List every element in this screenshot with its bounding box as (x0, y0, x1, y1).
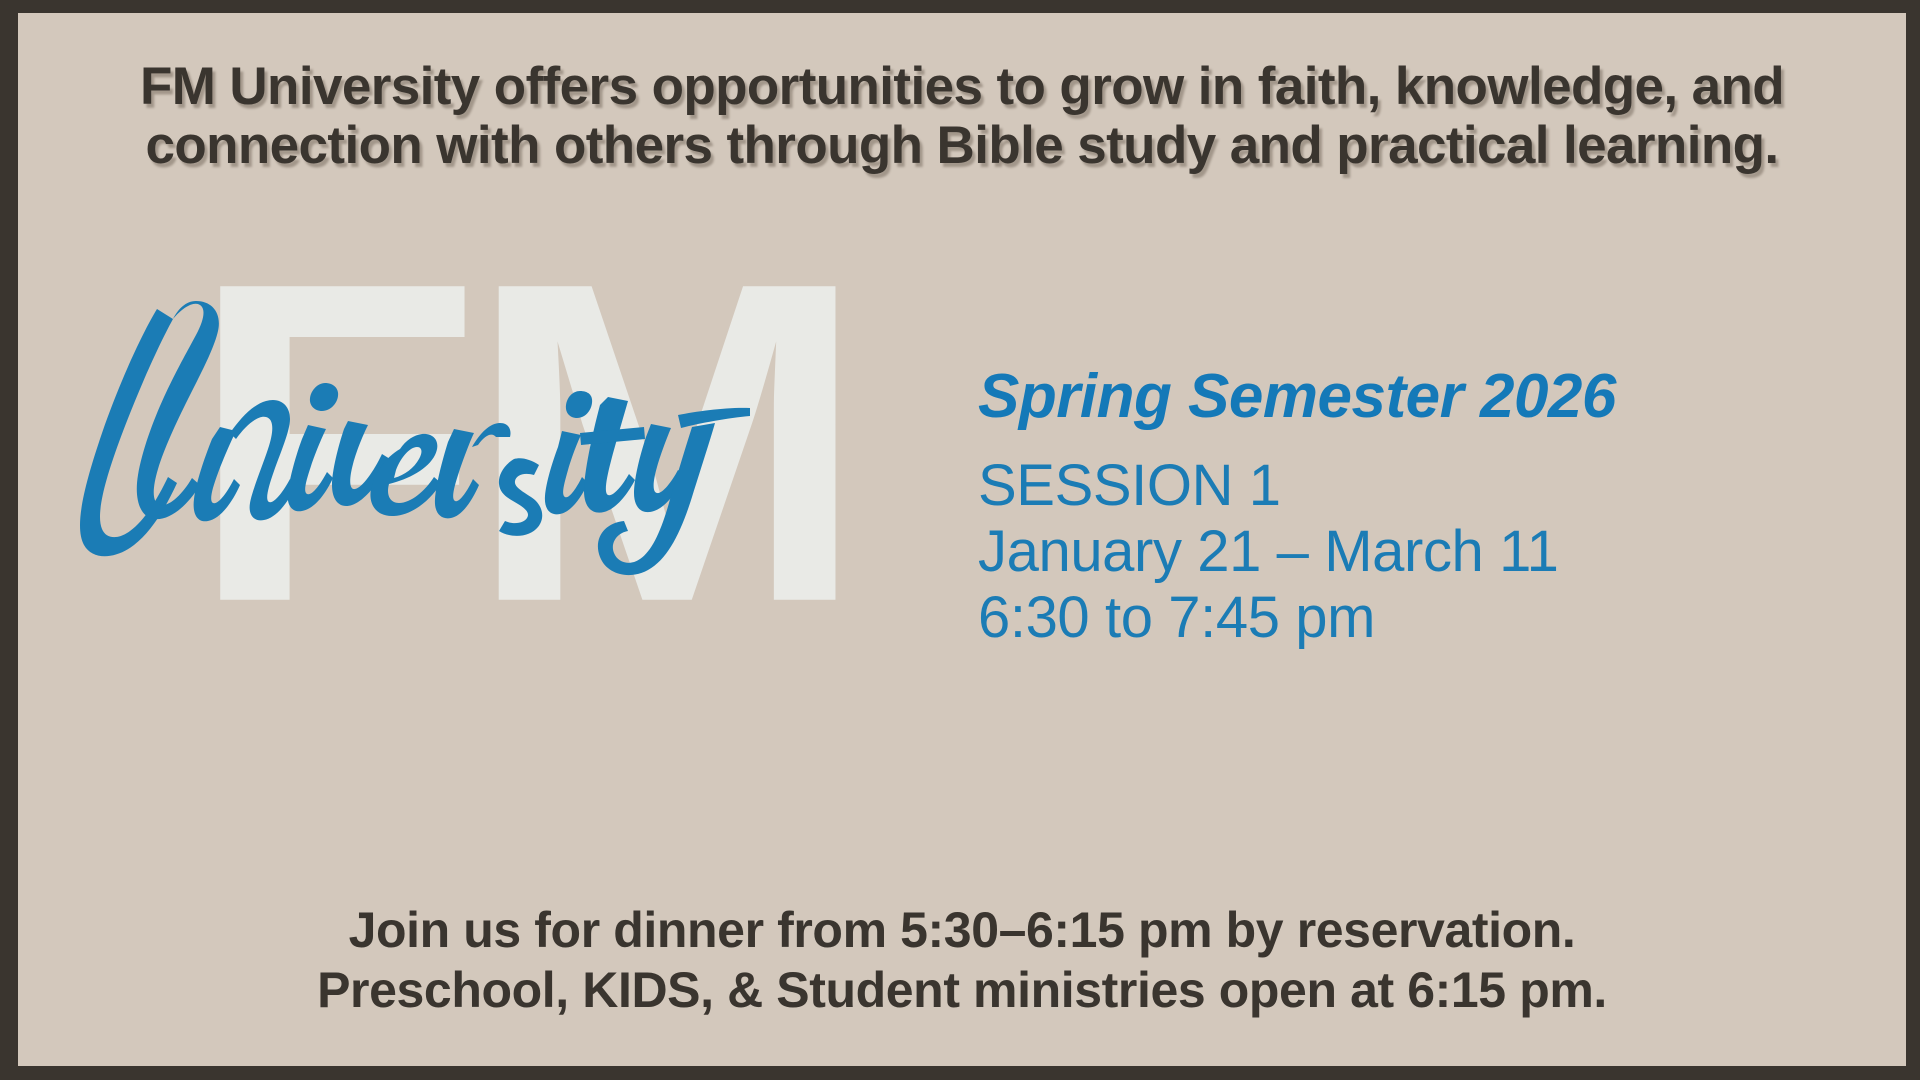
headline-line-2: connection with others through Bible stu… (64, 116, 1860, 175)
university-script-logo (44, 287, 784, 587)
semester-title: Spring Semester 2026 (978, 363, 1878, 431)
session-time: 6:30 to 7:45 pm (978, 585, 1878, 651)
headline-line-1: FM University offers opportunities to gr… (64, 57, 1860, 116)
session-dates: January 21 – March 11 (978, 519, 1878, 585)
footer-line-2: Preschool, KIDS, & Student ministries op… (58, 960, 1866, 1020)
session-details: SESSION 1 January 21 – March 11 6:30 to … (978, 453, 1878, 651)
page-title: FM University offers opportunities to gr… (18, 57, 1906, 176)
footer-note: Join us for dinner from 5:30–6:15 pm by … (18, 900, 1906, 1020)
session-number: SESSION 1 (978, 453, 1878, 519)
session-info: Spring Semester 2026 SESSION 1 January 2… (978, 363, 1878, 652)
footer-line-1: Join us for dinner from 5:30–6:15 pm by … (58, 900, 1866, 960)
fm-university-logo: FM (40, 249, 920, 649)
flyer-canvas: FM University offers opportunities to gr… (18, 13, 1906, 1066)
flyer-frame: FM University offers opportunities to gr… (0, 0, 1920, 1080)
